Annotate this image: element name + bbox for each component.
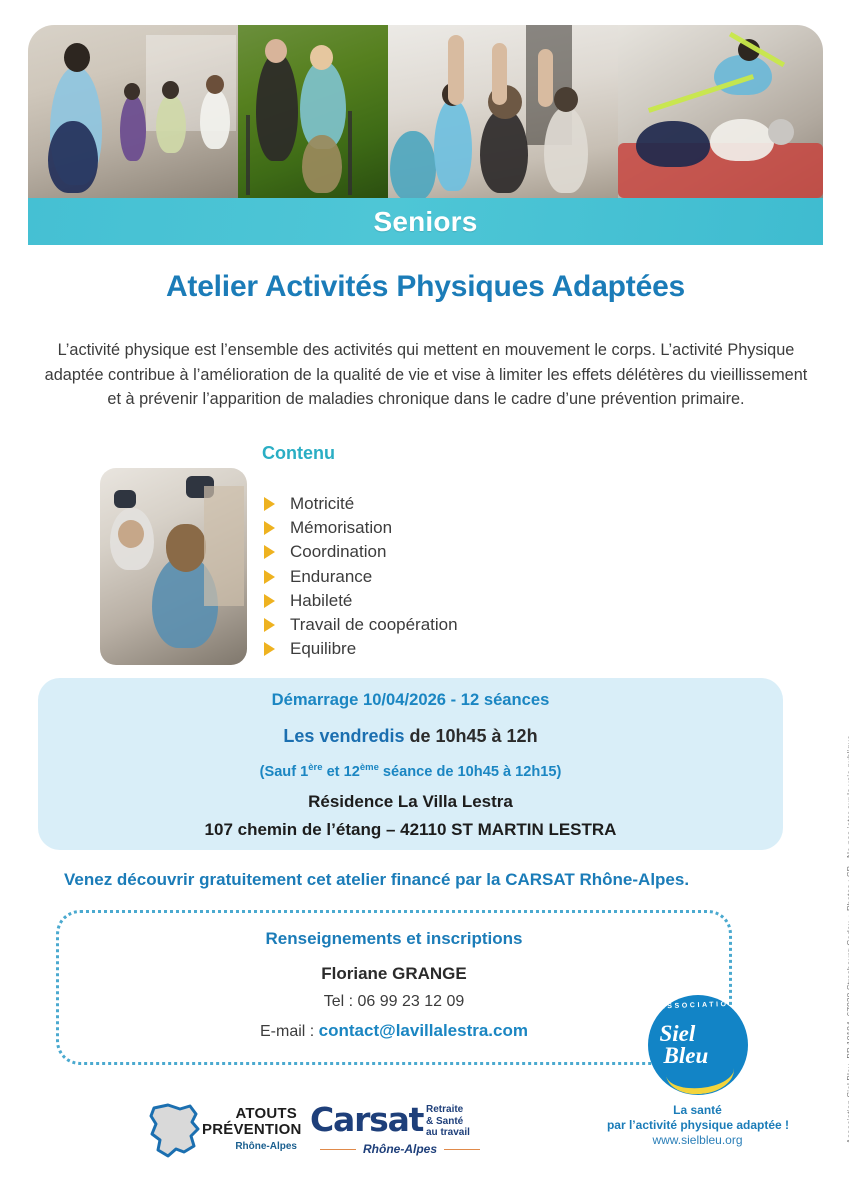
flyer-page: Seniors Atelier Activités Physiques Adap…: [0, 0, 849, 1200]
contact-phone: Tel : 06 99 23 12 09: [59, 993, 729, 1011]
siel-website[interactable]: www.sielbleu.org: [640, 1133, 755, 1148]
seniors-arms-raised-class-photo: [388, 25, 618, 198]
triangle-bullet-icon: [264, 521, 275, 535]
triangle-bullet-icon: [264, 642, 275, 656]
seniors-banner: Seniors: [28, 198, 823, 245]
header-photo-strip: [28, 25, 823, 198]
carsat-subtitle-block: Retraite & Santé au travail: [426, 1104, 470, 1139]
list-item-label: Coordination: [290, 542, 386, 562]
list-item: Equilibre: [264, 637, 458, 661]
exception-sup-first: ère: [308, 762, 322, 773]
atouts-region: Rhône-Alpes: [202, 1141, 297, 1152]
carsat-logo: Carsat Retraite & Santé au travail Rhône…: [310, 1098, 480, 1164]
contact-box: Renseignements et inscriptions Floriane …: [56, 910, 732, 1065]
exception-pre: (Sauf 1: [260, 764, 309, 780]
siel-smile-icon: [663, 1047, 735, 1095]
carsat-rule-left: [320, 1149, 356, 1150]
atouts-line1: ATOUTS: [202, 1106, 297, 1122]
list-item-label: Equilibre: [290, 639, 356, 659]
atouts-text-block: ATOUTS PRÉVENTION Rhône-Alpes: [202, 1106, 297, 1152]
siel-tagline-line2: par l’activité physique adaptée !: [588, 1118, 808, 1133]
contact-email-link[interactable]: contact@lavillalestra.com: [319, 1021, 528, 1040]
list-item-label: Travail de coopération: [290, 615, 458, 635]
contact-email-label: E-mail :: [260, 1023, 319, 1040]
rhone-alpes-map-icon: [146, 1102, 202, 1160]
list-item: Coordination: [264, 540, 458, 564]
list-item-label: Habileté: [290, 591, 352, 611]
triangle-bullet-icon: [264, 618, 275, 632]
list-item: Motricité: [264, 492, 458, 516]
exception-mid: et 12: [323, 764, 360, 780]
content-heading: Contenu: [262, 443, 335, 464]
exception-sup-second: ème: [360, 762, 379, 773]
exception-post: séance de 10h45 à 12h15): [379, 764, 562, 780]
list-item: Mémorisation: [264, 516, 458, 540]
atouts-line2: PRÉVENTION: [202, 1122, 297, 1138]
siel-bleu-logo-icon: ASSOCIATION Siel Bleu: [648, 995, 748, 1095]
banner-title: Seniors: [373, 206, 477, 238]
siel-bleu-logo-block: ASSOCIATION Siel Bleu La santé par l’act…: [640, 995, 755, 1148]
coach-training-photo: [100, 468, 247, 665]
venue-address: 107 chemin de l’étang – 42110 ST MARTIN …: [38, 820, 783, 840]
list-item-label: Mémorisation: [290, 518, 392, 538]
carsat-region-row: Rhône-Alpes: [320, 1142, 480, 1156]
list-item: Endurance: [264, 565, 458, 589]
intro-paragraph: L’activité physique est l’ensemble des a…: [40, 338, 812, 412]
carsat-region: Rhône-Alpes: [356, 1142, 444, 1156]
carsat-rule-right: [444, 1149, 480, 1150]
content-list: Motricité Mémorisation Coordination Endu…: [264, 492, 458, 661]
carsat-wordmark: Carsat: [310, 1100, 423, 1139]
siel-tagline: La santé par l’activité physique adaptée…: [640, 1103, 755, 1148]
triangle-bullet-icon: [264, 570, 275, 584]
page-title: Atelier Activités Physiques Adaptées: [28, 270, 823, 304]
triangle-bullet-icon: [264, 497, 275, 511]
nordic-walking-couple-photo: [238, 25, 388, 198]
carsat-sub-line1: Retraite: [426, 1104, 470, 1116]
session-day-line: Les vendredis de 10h45 à 12h: [38, 726, 783, 747]
triangle-bullet-icon: [264, 545, 275, 559]
list-item-label: Endurance: [290, 567, 372, 587]
contact-heading: Renseignements et inscriptions: [59, 929, 729, 949]
session-info-box: Démarrage 10/04/2026 - 12 séances Les ve…: [38, 678, 783, 850]
carsat-sub-line3: au travail: [426, 1127, 470, 1139]
atouts-prevention-logo: ATOUTS PRÉVENTION Rhône-Alpes: [146, 1100, 296, 1162]
session-start-line: Démarrage 10/04/2026 - 12 séances: [38, 690, 783, 710]
mat-exercise-elastic-band-photo: [618, 25, 823, 198]
carsat-sub-line2: & Santé: [426, 1116, 470, 1128]
venue-name: Résidence La Villa Lestra: [38, 792, 783, 812]
legal-side-text: Association Siel Bleu, BP 18104, 67038 S…: [845, 735, 849, 1144]
contact-name: Floriane GRANGE: [59, 964, 729, 984]
group-fitness-class-photo: [28, 25, 238, 198]
session-day-bold: Les vendredis: [283, 726, 404, 746]
siel-association-label: ASSOCIATION: [648, 1000, 748, 1010]
triangle-bullet-icon: [264, 594, 275, 608]
siel-tagline-line1: La santé: [640, 1103, 755, 1118]
free-notice: Venez découvrir gratuitement cet atelier…: [38, 870, 783, 890]
list-item: Habileté: [264, 589, 458, 613]
list-item: Travail de coopération: [264, 613, 458, 637]
list-item-label: Motricité: [290, 494, 354, 514]
session-day-rest: de 10h45 à 12h: [404, 726, 537, 746]
session-exception-line: (Sauf 1ère et 12ème séance de 10h45 à 12…: [38, 762, 783, 780]
contact-email-row: E-mail : contact@lavillalestra.com: [59, 1021, 729, 1041]
